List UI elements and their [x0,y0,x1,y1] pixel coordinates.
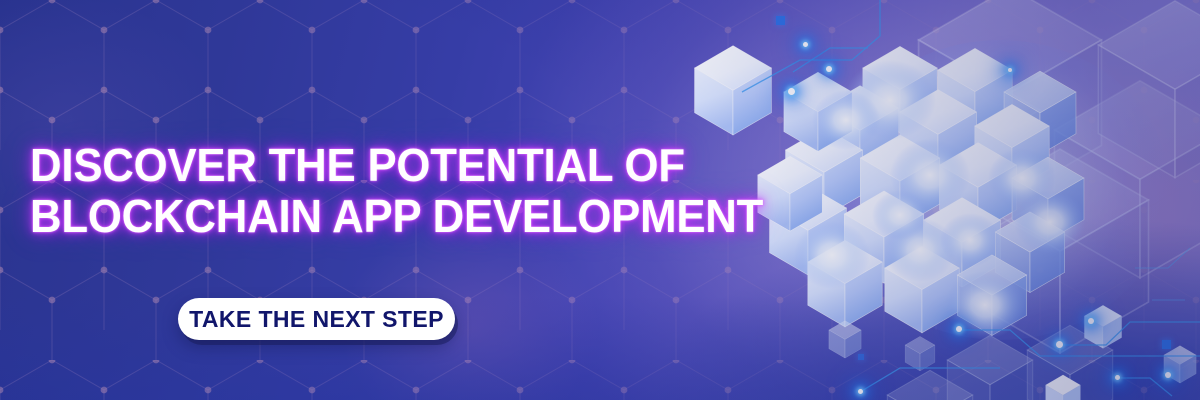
banner-content: DISCOVER THE POTENTIAL OF BLOCKCHAIN APP… [30,140,750,242]
page-title: DISCOVER THE POTENTIAL OF BLOCKCHAIN APP… [30,140,714,242]
headline-line-2: BLOCKCHAIN APP DEVELOPMENT [30,191,714,242]
promo-banner: DISCOVER THE POTENTIAL OF BLOCKCHAIN APP… [0,0,1200,400]
headline-line-1: DISCOVER THE POTENTIAL OF [30,140,714,191]
take-the-next-step-button[interactable]: TAKE THE NEXT STEP [178,298,455,340]
cta-container: TAKE THE NEXT STEP [178,298,455,340]
